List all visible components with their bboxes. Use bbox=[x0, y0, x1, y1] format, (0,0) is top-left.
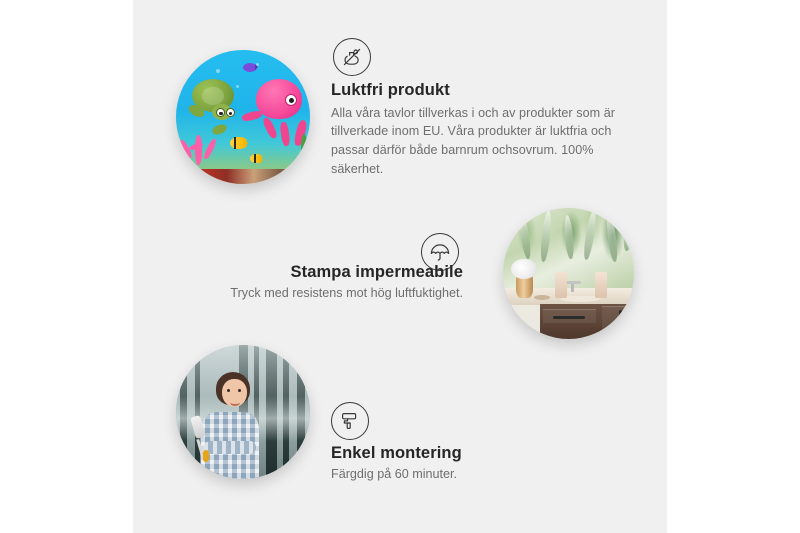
content-panel: Luktfri produkt Alla våra tavlor tillver… bbox=[133, 0, 667, 533]
feature-text-waterproof: Stampa impermeabile Tryck med resistens … bbox=[193, 262, 463, 302]
underwater-scene bbox=[176, 50, 310, 184]
feature-easy-mounting: Enkel montering Färgdig på 60 minuter. bbox=[133, 340, 667, 533]
feature-odourless: Luktfri produkt Alla våra tavlor tillver… bbox=[133, 0, 667, 200]
paint-roller-icon bbox=[331, 402, 369, 440]
feature-title: Enkel montering bbox=[331, 443, 611, 464]
feature-title: Luktfri produkt bbox=[331, 80, 621, 101]
feature-text-odourless: Luktfri produkt Alla våra tavlor tillver… bbox=[331, 80, 621, 178]
feature-text-easy-mounting: Enkel montering Färgdig på 60 minuter. bbox=[331, 443, 611, 483]
feature-image-odourless bbox=[176, 50, 310, 184]
no-fragrance-icon bbox=[333, 38, 371, 76]
bathroom-scene bbox=[503, 208, 634, 339]
feature-body: Alla våra tavlor tillverkas i och av pro… bbox=[331, 104, 621, 179]
feature-body: Färgdig på 60 minuter. bbox=[331, 466, 611, 484]
feature-title: Stampa impermeabile bbox=[193, 262, 463, 283]
feature-waterproof: Stampa impermeabile Tryck med resistens … bbox=[133, 200, 667, 345]
feature-body: Tryck med resistens mot hög luftfuktighe… bbox=[193, 285, 463, 303]
feature-image-waterproof bbox=[503, 208, 634, 339]
forest-scene bbox=[176, 345, 310, 479]
feature-image-easy-mounting bbox=[176, 345, 310, 479]
